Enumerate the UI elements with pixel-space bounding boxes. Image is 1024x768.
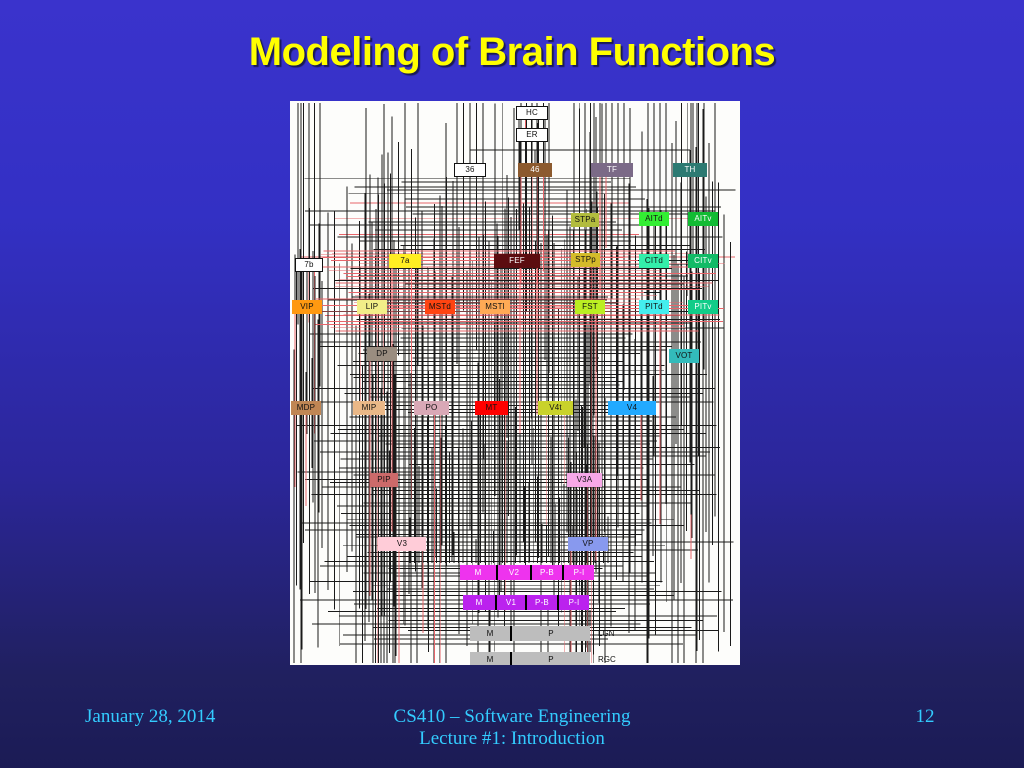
strip-cell-p-i: P-I <box>564 565 594 580</box>
node-pitv: PITv <box>688 300 718 314</box>
footer-course-line2: Lecture #1: Introduction <box>0 728 1024 750</box>
visual-cortex-hierarchy-diagram: HCER3646TFTHSTPaAITdAITv7b7aFEFSTPpCITdC… <box>290 101 740 665</box>
strip-cell-p: P <box>512 626 590 641</box>
node-7a: 7a <box>389 254 421 268</box>
connection-wires <box>290 101 740 665</box>
node-v4t: V4t <box>538 401 573 415</box>
node-pip: PIP <box>370 473 398 487</box>
strip-cell-m: M <box>460 565 496 580</box>
node-vip: VIP <box>292 300 322 314</box>
node-46: 46 <box>518 163 552 177</box>
footer-course-line1: CS410 – Software Engineering <box>394 706 631 727</box>
node-mstl: MSTl <box>480 300 510 314</box>
node-citd: CITd <box>639 254 669 268</box>
strip-cell-v1: V1 <box>497 595 525 610</box>
node-citv: CITv <box>688 254 718 268</box>
strip-cell-m: M <box>470 626 510 641</box>
node-dp: DP <box>367 347 397 361</box>
node-mdp: MDP <box>291 401 321 415</box>
node-aitd: AITd <box>639 212 669 226</box>
node-stpp: STPp <box>571 253 600 267</box>
strip-cell-v2: V2 <box>498 565 530 580</box>
page-title: Modeling of Brain Functions <box>0 30 1024 75</box>
node-v3a: V3A <box>567 473 602 487</box>
node-vp: VP <box>568 537 608 551</box>
node-v3: V3 <box>378 537 426 551</box>
rgc-label: RGC <box>598 655 616 664</box>
node-7b: 7b <box>295 258 323 272</box>
node-fst: FST <box>575 300 605 314</box>
node-stpa: STPa <box>571 213 599 227</box>
node-er: ER <box>516 128 548 142</box>
rgc-strip: MP <box>470 652 590 665</box>
footer-page-number: 12 <box>905 706 945 728</box>
strip-cell-p: P <box>512 652 590 665</box>
v2-strip: MV2P-BP-I <box>460 565 594 580</box>
node-tf: TF <box>591 163 633 177</box>
strip-cell-p-b: P-B <box>527 595 557 610</box>
lgn-label: LGN <box>598 629 614 638</box>
node-36: 36 <box>454 163 486 177</box>
slide: Modeling of Brain Functions HCER3646TFTH… <box>0 0 1024 768</box>
strip-cell-m: M <box>470 652 510 665</box>
strip-cell-m: M <box>463 595 495 610</box>
node-hc: HC <box>516 106 548 120</box>
node-po: PO <box>414 401 449 415</box>
node-vot: VOT <box>669 349 699 363</box>
node-v4: V4 <box>608 401 656 415</box>
footer-course: CS410 – Software Engineering Lecture #1:… <box>0 706 1024 750</box>
node-mt: MT <box>475 401 508 415</box>
lgn-strip: MP <box>470 626 590 641</box>
node-fef: FEF <box>494 254 540 268</box>
v1-strip: MV1P-BP-I <box>463 595 589 610</box>
node-lip: LIP <box>357 300 387 314</box>
node-pitd: PITd <box>639 300 669 314</box>
node-th: TH <box>673 163 707 177</box>
node-aitv: AITv <box>688 212 718 226</box>
strip-cell-p-i: P-I <box>559 595 589 610</box>
strip-cell-p-b: P-B <box>532 565 562 580</box>
node-mstd: MSTd <box>425 300 455 314</box>
node-mip: MIP <box>353 401 385 415</box>
